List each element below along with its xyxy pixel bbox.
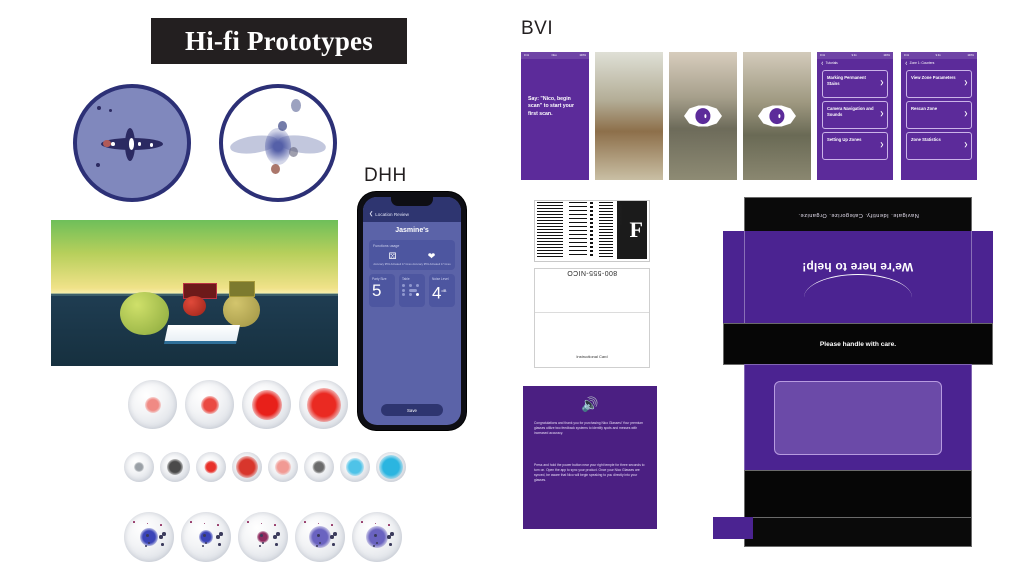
- pkg-headline: We're here to help!: [802, 260, 913, 274]
- orb-particle: [260, 534, 264, 538]
- orb-particle: [361, 521, 363, 523]
- orb-particle: [388, 524, 390, 526]
- status-title: Nico: [552, 54, 557, 57]
- orb-particle: [304, 521, 306, 523]
- barcode: [590, 202, 593, 258]
- lens-render-dark-field: [73, 84, 191, 202]
- orb-red-intensity-series-1: [185, 380, 234, 429]
- status-time: 9:41: [904, 54, 909, 57]
- lens-render-light-field: [219, 84, 337, 202]
- save-button[interactable]: Save: [381, 404, 443, 416]
- status-time: 9:41: [524, 54, 529, 57]
- phone-notch: [391, 197, 433, 206]
- orb-glow: [313, 461, 326, 474]
- pkg-logo-band: [744, 470, 972, 518]
- orb-glow: [134, 462, 144, 472]
- orb-material-study-series-5: [304, 452, 334, 482]
- stat-card-party-size[interactable]: Party Size 5: [369, 274, 395, 307]
- function-caption: Accuracy 95% Activated 17 times: [373, 263, 412, 266]
- orb-particle-scatter-series-1: [181, 512, 231, 562]
- status-bar: 9:41 Nico 100%: [521, 52, 589, 59]
- orb-particle: [275, 543, 278, 546]
- scan-instruction-text: Say: "Nico, begin scan" to start your fi…: [528, 96, 582, 118]
- table-seat-wide: [409, 289, 417, 292]
- dhh-phone-mockup: ❮ Location Review Jasmine's Functions us…: [358, 192, 466, 430]
- bvi-phone-camera-1: 9:41 Nico 100%: [595, 52, 663, 180]
- bvi-phone-instruction: 9:41 Nico 100% Say: "Nico, begin scan" t…: [521, 52, 589, 180]
- orb-material-study-series-2: [196, 452, 226, 482]
- orb-particle: [276, 532, 280, 536]
- menu-item-label: View Zone Parameters: [911, 75, 956, 80]
- orb-particle: [217, 524, 219, 526]
- zone-back-button[interactable]: ❮ Zone 1: Counters: [901, 59, 977, 67]
- lens-node: [291, 99, 301, 112]
- menu-item-rescan-zone[interactable]: Rescan Zone ❯: [906, 101, 972, 129]
- orb-particle: [218, 543, 221, 546]
- orb-particle: [247, 521, 249, 523]
- page-title: Hi-fi Prototypes: [151, 18, 407, 64]
- functions-usage-header: Functions usage: [373, 244, 451, 248]
- lens-node: [289, 147, 298, 157]
- lens-body: [265, 128, 291, 165]
- eye-icon: [847, 488, 869, 501]
- scene-platform: [164, 325, 240, 344]
- menu-item-zone-statistics[interactable]: Zone Statistics ❯: [906, 132, 972, 160]
- orb-material-study-series-1: [160, 452, 190, 482]
- orb-particle-scatter-series-4: [352, 512, 402, 562]
- instructional-card-caption: Instructional Card: [535, 354, 649, 359]
- orb-material-study-series-3: [232, 452, 262, 482]
- scene-ui-panel-olive: [229, 281, 255, 297]
- menu-item-label: Marking Permanent Stains: [827, 75, 866, 86]
- orb-particle: [146, 534, 150, 538]
- section-label-bvi: BVI: [521, 18, 553, 40]
- menu-item-label: Rescan Zone: [911, 106, 937, 111]
- orb-particle: [219, 532, 223, 536]
- prototype-board: Hi-fi Prototypes BVI DHH: [0, 0, 1024, 577]
- welcome-paragraph-1: Congratulations and thank you for purcha…: [534, 421, 646, 437]
- orb-particle: [330, 535, 334, 539]
- orb-particle: [373, 545, 376, 548]
- scene-sphere-olive: [223, 293, 260, 327]
- orb-glow: [236, 456, 258, 478]
- orb-glow: [167, 459, 183, 475]
- shipping-label: F FedEx Ground: [534, 200, 650, 262]
- orb-particle: [202, 545, 205, 548]
- stat-card-table[interactable]: Table: [399, 274, 425, 307]
- section-label-dhh: DHH: [364, 165, 407, 187]
- pkg-top-flap: Navigate. Identify. Categorize. Organize…: [744, 197, 972, 232]
- lens-node: [278, 121, 287, 131]
- orb-particle: [216, 535, 220, 539]
- status-bar: 9:41 9:41 100%: [901, 52, 977, 59]
- menu-item-setting-up-zones[interactable]: Setting Up Zones ❯: [822, 132, 888, 160]
- table-dot: [402, 293, 405, 296]
- orb-red-intensity-series-3: [299, 380, 348, 429]
- orb-particle: [316, 545, 319, 548]
- orb-particle: [133, 521, 135, 523]
- barcode: [569, 202, 587, 258]
- dhh-back-label: Location Review: [375, 212, 409, 217]
- orb-particle: [390, 532, 394, 536]
- status-time: 9:41: [820, 54, 825, 57]
- orb-particle: [261, 523, 263, 525]
- packaging-dieline: Navigate. Identify. Categorize. Organize…: [713, 197, 1003, 547]
- status-title: 9:41: [936, 54, 941, 57]
- bvi-phone-camera-2: 9:41 Nico 100%: [669, 52, 737, 180]
- chevron-right-icon: ❯: [880, 81, 884, 87]
- pkg-side-strip: [713, 517, 753, 539]
- orb-red-intensity-series-2: [242, 380, 291, 429]
- bvi-phone-tutorials-menu: 9:41 9:41 100% ❮ Tutorials Marking Perma…: [817, 52, 893, 180]
- orb-glow: [309, 526, 331, 548]
- barcode: [599, 202, 613, 258]
- table-dot: [409, 284, 412, 287]
- pkg-bottom-flap: [744, 517, 972, 547]
- stat-value: 4dB: [432, 281, 452, 304]
- orb-glow: [346, 458, 364, 476]
- dhh-back-button[interactable]: ❮ Location Review: [369, 211, 455, 217]
- pkg-care-text: Please handle with care.: [820, 341, 896, 348]
- chevron-left-icon: ❮: [905, 61, 908, 65]
- stat-unit: dB: [441, 288, 446, 293]
- orb-particle: [262, 542, 265, 545]
- stat-value: 5: [372, 281, 392, 301]
- orb-particle: [333, 532, 337, 536]
- orb-particle: [161, 543, 164, 546]
- orb-glow: [205, 461, 218, 474]
- chevron-left-icon: ❮: [369, 211, 373, 217]
- stat-card-noise-level[interactable]: Noise Level 4dB: [429, 274, 455, 307]
- orb-particle: [159, 535, 163, 539]
- orb-particle: [317, 534, 321, 538]
- orb-particle: [205, 542, 208, 545]
- orb-particle: [259, 545, 262, 548]
- orb-particle: [318, 523, 320, 525]
- orb-material-study-series-0: [124, 452, 154, 482]
- dhh-stat-cards: Party Size 5 Table: [369, 274, 455, 307]
- menu-item-view-zone-parameters[interactable]: View Zone Parameters ❯: [906, 70, 972, 98]
- function-item-hearing[interactable]: ⚄ Accuracy 95% Activated 17 times: [373, 251, 412, 266]
- lens-dot: [111, 142, 115, 146]
- bvi-phone-camera-3: 9:41 Nico 100%: [743, 52, 811, 180]
- pkg-smile-graphic: [804, 274, 912, 300]
- dhh-phone-screen: ❮ Location Review Jasmine's Functions us…: [363, 197, 461, 425]
- menu-item-label: Setting Up Zones: [827, 137, 861, 142]
- zone-header-label: Zone 1: Counters: [910, 61, 935, 65]
- orb-particle: [375, 523, 377, 525]
- welcome-paragraph-2: Press and hold the power button near you…: [534, 463, 646, 484]
- orb-glow: [379, 455, 403, 479]
- orb-particle: [374, 534, 378, 538]
- pkg-front-face-inner: We're here to help!: [744, 231, 972, 324]
- orb-particle: [160, 524, 162, 526]
- orb-particle: [162, 532, 166, 536]
- lens-speck: [96, 163, 100, 167]
- brand-logo: [535, 313, 649, 349]
- stat-label: Table: [402, 277, 422, 281]
- lens-core: [129, 138, 135, 150]
- pkg-window-cutout: [774, 381, 942, 455]
- orb-particle: [332, 543, 335, 546]
- orb-glow: [307, 388, 341, 422]
- status-bar: 9:41 9:41 100%: [817, 52, 893, 59]
- dhh-page-title: Jasmine's: [363, 222, 461, 240]
- status-battery: 100%: [883, 54, 890, 57]
- function-item-favorite[interactable]: ❤ Accuracy 95% Activated 17 times: [412, 251, 451, 266]
- orb-particle: [387, 535, 391, 539]
- orb-particle: [274, 524, 276, 526]
- status-title: 9:41: [852, 54, 857, 57]
- orb-material-study-series-4: [268, 452, 298, 482]
- orb-material-study-series-7: [376, 452, 406, 482]
- orb-particle-scatter-series-0: [124, 512, 174, 562]
- pkg-window-face: [744, 364, 972, 471]
- orb-glow: [145, 397, 161, 413]
- status-battery: 100%: [579, 54, 586, 57]
- menu-item-label: Zone Statistics: [911, 137, 941, 142]
- chevron-right-icon: ❯: [880, 143, 884, 149]
- lens-dot: [138, 142, 142, 146]
- orb-particle: [148, 542, 151, 545]
- chevron-left-icon: ❮: [821, 61, 824, 65]
- chevron-right-icon: ❯: [964, 143, 968, 149]
- pkg-tagline: Navigate. Identify. Categorize. Organize…: [798, 212, 919, 218]
- orb-glow: [201, 396, 219, 414]
- menu-item-marking-permanent-stains[interactable]: Marking Permanent Stains ❯: [822, 70, 888, 98]
- orb-material-study-series-6: [340, 452, 370, 482]
- table-dot: [416, 284, 419, 287]
- lens-speck: [97, 106, 101, 110]
- tutorials-header-label: Tutorials: [826, 61, 838, 65]
- page-title-text: Hi-fi Prototypes: [185, 26, 373, 57]
- orb-particle: [190, 521, 192, 523]
- unity-environment-render: [51, 220, 338, 366]
- orb-glow: [252, 390, 282, 420]
- eye-icon: [577, 327, 607, 344]
- lens-node-red: [271, 164, 280, 174]
- orb-particle: [376, 542, 379, 545]
- barcode: [537, 202, 563, 258]
- eye-icon: [684, 105, 722, 127]
- eye-icon: [758, 105, 796, 127]
- table-dot: [409, 293, 412, 296]
- orb-particle: [147, 523, 149, 525]
- chevron-right-icon: ❯: [964, 81, 968, 87]
- support-phone-number: 800-555-NICO: [535, 269, 649, 298]
- orb-particle: [203, 534, 207, 538]
- orb-particle: [319, 542, 322, 545]
- welcome-insert-card: 🔊 Congratulations and thank you for purc…: [523, 386, 657, 529]
- chevron-right-icon: ❯: [964, 112, 968, 118]
- orb-red-intensity-series-0: [128, 380, 177, 429]
- orb-glow: [366, 526, 388, 548]
- functions-usage-card: Functions usage ⚄ Accuracy 95% Activated…: [369, 240, 455, 270]
- orb-particle-scatter-series-2: [238, 512, 288, 562]
- pkg-care-band: Please handle with care.: [723, 323, 993, 365]
- lens-speck: [109, 109, 112, 112]
- tutorials-back-button[interactable]: ❮ Tutorials: [817, 59, 893, 67]
- bvi-phone-zone-menu: 9:41 9:41 100% ❮ Zone 1: Counters View Z…: [901, 52, 977, 180]
- carrier-text: FedEx Ground: [619, 205, 623, 225]
- table-dot-active: [416, 293, 419, 296]
- table-dot: [402, 289, 405, 292]
- orb-particle: [204, 523, 206, 525]
- menu-item-label: Camera Navigation and Sounds: [827, 106, 874, 117]
- menu-item-camera-navigation-and-sounds[interactable]: Camera Navigation and Sounds ❯: [822, 101, 888, 129]
- carrier-mark: F: [630, 217, 643, 243]
- hearing-aid-icon: ⚄: [373, 251, 412, 261]
- orb-glow: [275, 459, 291, 475]
- speaker-icon: 🔊: [534, 396, 646, 412]
- orb-particle: [389, 543, 392, 546]
- chevron-right-icon: ❯: [880, 112, 884, 118]
- instructional-card: 800-555-NICO Instructional Card: [534, 268, 650, 368]
- scene-sphere-green: [120, 292, 169, 336]
- function-caption: Accuracy 95% Activated 17 times: [412, 263, 451, 266]
- orb-particle: [273, 535, 277, 539]
- orb-particle: [331, 524, 333, 526]
- status-battery: 100%: [967, 54, 974, 57]
- table-dot: [402, 284, 405, 287]
- heart-icon: ❤: [412, 251, 451, 261]
- orb-particle-scatter-series-3: [295, 512, 345, 562]
- table-layout-diagram: [402, 284, 422, 296]
- camera-feed: [595, 52, 663, 180]
- orb-particle: [145, 545, 148, 548]
